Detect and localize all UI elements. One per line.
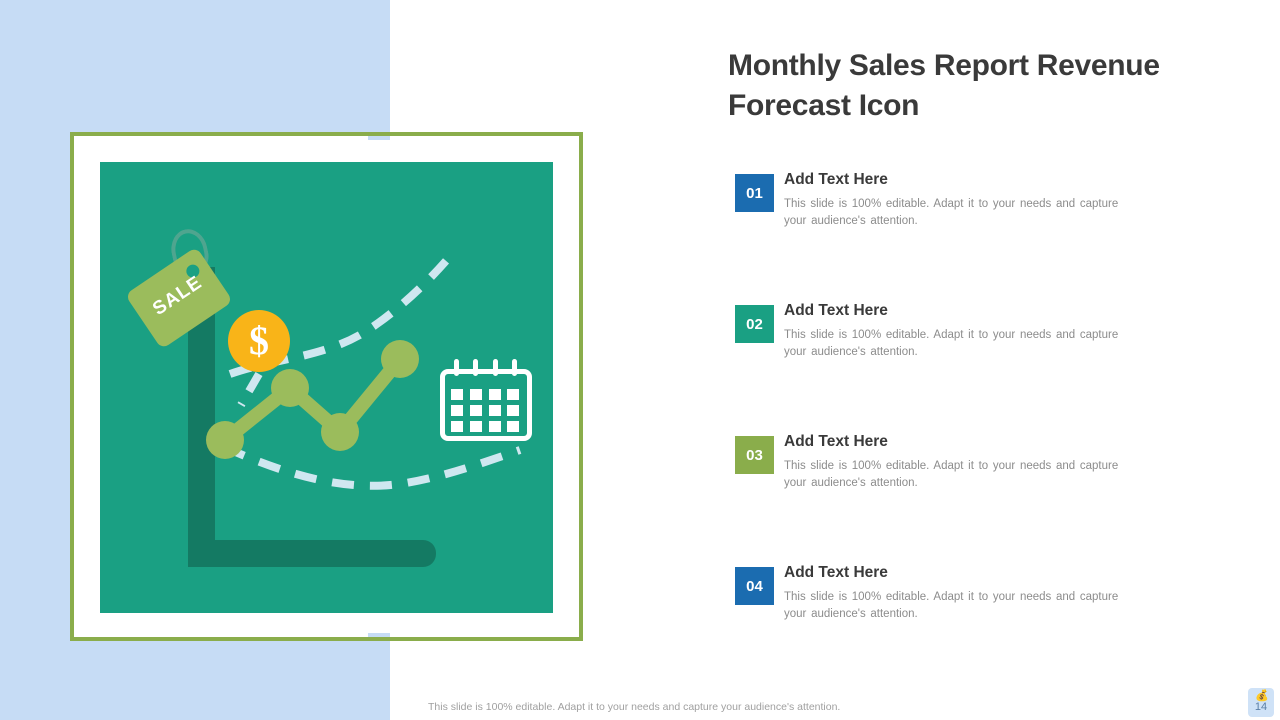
calendar-cell xyxy=(451,405,463,416)
calendar-cell xyxy=(489,405,501,416)
calendar-cell xyxy=(507,421,519,432)
item-title: Add Text Here xyxy=(784,564,1124,582)
illustration-panel: SALE $ xyxy=(100,162,553,613)
item-content: Add Text Here This slide is 100% editabl… xyxy=(784,171,1124,229)
item-content: Add Text Here This slide is 100% editabl… xyxy=(784,433,1124,491)
list-item[interactable]: 03 Add Text Here This slide is 100% edit… xyxy=(735,433,1135,564)
chart-node-1 xyxy=(206,421,244,459)
item-content: Add Text Here This slide is 100% editabl… xyxy=(784,564,1124,622)
item-description: This slide is 100% editable. Adapt it to… xyxy=(784,589,1124,622)
item-number-badge: 02 xyxy=(735,305,774,343)
dollar-symbol: $ xyxy=(249,321,269,361)
page-number: 14 xyxy=(1248,701,1274,713)
calendar-cell xyxy=(470,405,482,416)
calendar-cell xyxy=(470,421,482,432)
item-description: This slide is 100% editable. Adapt it to… xyxy=(784,458,1124,491)
calendar-icon xyxy=(440,359,532,441)
slide-canvas: SALE $ xyxy=(0,0,1280,720)
item-title: Add Text Here xyxy=(784,302,1124,320)
item-number-badge: 01 xyxy=(735,174,774,212)
dashed-forecast-lower xyxy=(224,447,520,486)
calendar-cell xyxy=(507,405,519,416)
chart-node-3 xyxy=(321,413,359,451)
item-description: This slide is 100% editable. Adapt it to… xyxy=(784,196,1124,229)
item-title: Add Text Here xyxy=(784,433,1124,451)
calendar-cell xyxy=(451,389,463,400)
calendar-cell xyxy=(470,389,482,400)
item-content: Add Text Here This slide is 100% editabl… xyxy=(784,302,1124,360)
dashed-coin-connector xyxy=(241,374,259,405)
list-item[interactable]: 04 Add Text Here This slide is 100% edit… xyxy=(735,564,1135,695)
calendar-cell xyxy=(507,389,519,400)
chart-node-2 xyxy=(271,369,309,407)
item-title: Add Text Here xyxy=(784,171,1124,189)
footer-note: This slide is 100% editable. Adapt it to… xyxy=(428,701,840,713)
list-item[interactable]: 01 Add Text Here This slide is 100% edit… xyxy=(735,171,1135,302)
list-item[interactable]: 02 Add Text Here This slide is 100% edit… xyxy=(735,302,1135,433)
item-number-badge: 04 xyxy=(735,567,774,605)
calendar-cell xyxy=(451,421,463,432)
dollar-coin-icon: $ xyxy=(228,310,290,372)
page-number-badge: 💰 14 xyxy=(1248,688,1274,717)
chart-node-4 xyxy=(381,340,419,378)
calendar-cell xyxy=(489,421,501,432)
feature-list: 01 Add Text Here This slide is 100% edit… xyxy=(735,171,1135,695)
calendar-grid xyxy=(451,389,521,432)
item-number-badge: 03 xyxy=(735,436,774,474)
page-title: Monthly Sales Report Revenue Forecast Ic… xyxy=(728,46,1238,126)
item-description: This slide is 100% editable. Adapt it to… xyxy=(784,327,1124,360)
calendar-cell xyxy=(489,389,501,400)
